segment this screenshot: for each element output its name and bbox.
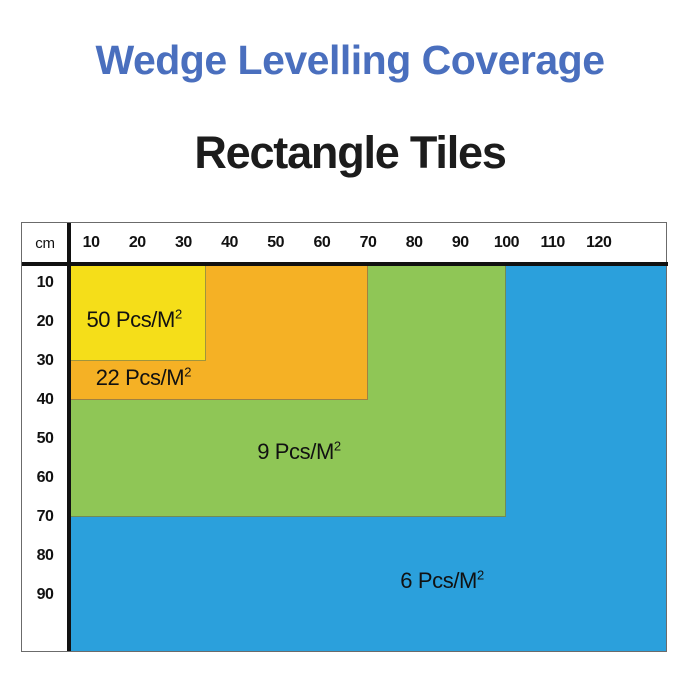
block-22-pcs-label-text: 22 Pcs/M — [96, 365, 185, 390]
y-axis-tick-10: 10 — [22, 263, 68, 302]
block-9-pcs-label-exponent: 2 — [334, 439, 341, 454]
block-9-pcs-label-text: 9 Pcs/M — [257, 439, 334, 464]
axis-unit-label: cm — [22, 223, 68, 263]
x-axis-tick-50: 50 — [253, 223, 299, 263]
chart-plot-area: 6 Pcs/M29 Pcs/M222 Pcs/M250 Pcs/M2 — [68, 263, 666, 651]
x-axis-tick-80: 80 — [391, 223, 437, 263]
x-axis-tick-110: 110 — [530, 223, 576, 263]
block-6-pcs-label: 6 Pcs/M2 — [400, 568, 484, 594]
x-axis-rule — [22, 262, 668, 266]
y-axis-tick-50: 50 — [22, 419, 68, 458]
row-header-column: 102030405060708090 — [22, 263, 68, 651]
x-axis-tick-100: 100 — [483, 223, 529, 263]
y-axis-tick-40: 40 — [22, 380, 68, 419]
x-axis-tick-30: 30 — [160, 223, 206, 263]
x-axis-tick-60: 60 — [299, 223, 345, 263]
x-axis-tick-70: 70 — [345, 223, 391, 263]
y-axis-tick-90: 90 — [22, 575, 68, 614]
page-title: Wedge Levelling Coverage — [0, 40, 700, 81]
block-50-pcs-label-exponent: 2 — [175, 306, 182, 321]
x-axis-tick-40: 40 — [206, 223, 252, 263]
block-9-pcs-label: 9 Pcs/M2 — [257, 439, 341, 465]
page-subtitle: Rectangle Tiles — [0, 130, 700, 175]
x-axis-tick-20: 20 — [114, 223, 160, 263]
y-axis-tick-20: 20 — [22, 302, 68, 341]
y-axis-tick-60: 60 — [22, 458, 68, 497]
y-axis-tick-70: 70 — [22, 497, 68, 536]
y-axis-rule — [67, 223, 71, 651]
y-axis-tick-80: 80 — [22, 536, 68, 575]
column-header-row: cm 102030405060708090100110120 — [22, 223, 666, 263]
block-22-pcs-label: 22 Pcs/M2 — [96, 365, 191, 391]
y-axis-tick-30: 30 — [22, 341, 68, 380]
x-axis-tick-10: 10 — [68, 223, 114, 263]
block-6-pcs-label-exponent: 2 — [477, 567, 484, 582]
coverage-chart: 6 Pcs/M29 Pcs/M222 Pcs/M250 Pcs/M2 cm 10… — [21, 222, 667, 652]
block-50-pcs-label: 50 Pcs/M2 — [86, 307, 181, 333]
x-axis-tick-90: 90 — [437, 223, 483, 263]
x-axis-tick-120: 120 — [576, 223, 622, 263]
block-50-pcs-label-text: 50 Pcs/M — [86, 307, 175, 332]
block-6-pcs-label-text: 6 Pcs/M — [400, 568, 477, 593]
block-22-pcs-label-exponent: 2 — [184, 365, 191, 380]
